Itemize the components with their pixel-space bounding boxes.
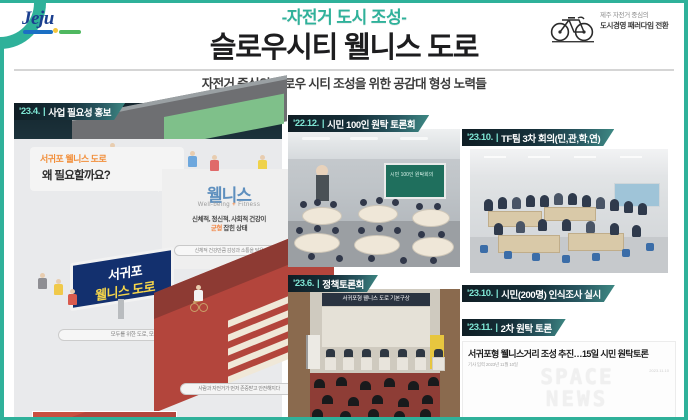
wellness-desc-hl: 균형 bbox=[211, 225, 222, 232]
hall-illustration: 시민 100인 원탁회의 bbox=[288, 129, 460, 267]
attendee bbox=[632, 225, 641, 237]
wellness-desc-l1: 신체적, 정신적, 사회적 건강이 bbox=[192, 216, 266, 223]
audience-seating bbox=[310, 373, 440, 420]
attendee bbox=[624, 201, 633, 213]
person-body bbox=[68, 294, 77, 305]
panelist-desk bbox=[324, 357, 337, 371]
badge-line2: 도시경영 패러다임 전환 bbox=[600, 20, 680, 31]
hall-ceiling bbox=[288, 129, 460, 159]
podium bbox=[316, 175, 329, 201]
slide-canvas: Jeju -자전거 도시 조성- 슬로우시티 웰니스 도로 bbox=[0, 0, 688, 420]
promo-label-ribbon: '23.4. | 사업 필요성 홍보 bbox=[14, 103, 125, 120]
attendee bbox=[562, 219, 571, 231]
wellness-subtitle: Well-being + Fitness bbox=[162, 202, 296, 208]
survey-label-ribbon: '23.10. | 시민(200명) 인식조사 실시 bbox=[462, 285, 615, 302]
bubble-line1: 서귀포 웰니스 도로 bbox=[40, 152, 106, 165]
round-table bbox=[412, 237, 454, 257]
promo-speech-bubble: 서귀포 웰니스 도로 왜 필요할까요? bbox=[30, 147, 184, 191]
roundtable2-sep: | bbox=[495, 322, 497, 333]
panel-roundtable-100: '22.12. | 시민 100인 원탁 토론회 시민 100인 원탁회의 bbox=[288, 115, 460, 267]
person-body bbox=[188, 156, 197, 167]
seated-attendee bbox=[358, 227, 365, 234]
seated-attendee bbox=[296, 227, 303, 234]
round-table bbox=[302, 207, 342, 225]
tfmeeting-photo bbox=[462, 143, 676, 279]
presentation-screen: 시민 100인 원탁회의 bbox=[384, 163, 446, 199]
roundtable100-sep: | bbox=[322, 118, 324, 129]
auditorium-illustration: 서귀포형 웰니스 도로 기본구상 bbox=[288, 289, 460, 420]
audience-head bbox=[394, 411, 405, 420]
seated-attendee bbox=[336, 255, 343, 262]
promo-date: '23.4. bbox=[19, 106, 40, 117]
roundtable100-label-ribbon: '22.12. | 시민 100인 원탁 토론회 bbox=[288, 115, 429, 132]
ceiling-light bbox=[574, 156, 596, 158]
audience-head bbox=[348, 397, 359, 406]
panelist-desk bbox=[342, 357, 355, 371]
office-chair bbox=[480, 245, 488, 253]
seated-attendee bbox=[314, 225, 321, 232]
ceiling-light bbox=[484, 156, 506, 158]
wellness-desc-l2: 잡힌 상태 bbox=[223, 225, 247, 232]
attendee bbox=[638, 203, 647, 215]
person-body bbox=[54, 284, 63, 295]
attendee bbox=[484, 199, 493, 211]
audience-head bbox=[336, 377, 347, 386]
office-chair bbox=[504, 251, 512, 259]
audience-head bbox=[360, 381, 371, 390]
ceiling-light bbox=[302, 137, 330, 140]
survey-label: 시민(200명) 인식조사 실시 bbox=[501, 287, 601, 301]
ceiling-light bbox=[400, 137, 428, 140]
seated-attendee bbox=[332, 227, 339, 234]
panel-roundtable-2: '23.11. | 2차 원탁 토론 서귀포형 웰니스거리 조성 추진…15일 … bbox=[462, 319, 676, 419]
policyforum-photo: 서귀포형 웰니스 도로 기본구상 bbox=[288, 289, 460, 420]
audience-head bbox=[314, 379, 325, 388]
audience-head bbox=[398, 398, 409, 407]
promo-sep: | bbox=[43, 106, 45, 117]
seated-attendee bbox=[416, 203, 423, 210]
bike-wheel bbox=[190, 303, 199, 312]
person-body bbox=[38, 278, 47, 289]
survey-sep: | bbox=[496, 288, 498, 299]
seated-attendee bbox=[308, 253, 315, 260]
attendee bbox=[568, 193, 577, 205]
seated-attendee bbox=[394, 227, 401, 234]
audience-head bbox=[384, 378, 395, 387]
panel-policy-forum: '23.6. | 정책토론회 서귀포형 웰니스 도로 기본구상 bbox=[288, 275, 460, 420]
attendee bbox=[526, 195, 535, 207]
news-headline: 서귀포형 웰니스거리 조성 추진…15일 시민 원탁토론 bbox=[468, 347, 672, 360]
seated-attendee bbox=[314, 199, 321, 206]
attendee bbox=[586, 221, 595, 233]
policyforum-date: '23.6. bbox=[293, 278, 314, 289]
bicycle-icon bbox=[550, 9, 596, 43]
audience-head bbox=[368, 409, 379, 418]
panelist-desk bbox=[378, 357, 391, 371]
audience-head bbox=[428, 377, 439, 386]
news-timestamp: 2023.11.10 bbox=[649, 368, 669, 373]
wellness-sub-plus: + bbox=[232, 202, 236, 208]
ceiling-light bbox=[620, 156, 642, 158]
panelist-desk bbox=[360, 357, 373, 371]
audience-head bbox=[340, 411, 351, 420]
projector-screen bbox=[614, 183, 660, 207]
badge-text: 제주 자전거 중심의 도시경영 패러다임 전환 bbox=[600, 11, 680, 31]
wellness-description: 신체적, 정신적, 사회적 건강이 균형 잡힌 상태 bbox=[162, 215, 296, 233]
tfmeeting-sep: | bbox=[496, 132, 498, 143]
office-chair bbox=[532, 253, 540, 261]
roundtable2-label-ribbon: '23.11. | 2차 원탁 토론 bbox=[462, 319, 566, 336]
attendee bbox=[596, 197, 605, 209]
audience-head bbox=[420, 409, 431, 418]
attendee bbox=[538, 219, 547, 231]
roundtable2-label: 2차 원탁 토론 bbox=[501, 321, 552, 335]
promo-van-inset-photo bbox=[32, 411, 177, 420]
round-table bbox=[294, 233, 340, 253]
seated-attendee bbox=[418, 231, 425, 238]
wellness-sub-a: Well-being bbox=[198, 202, 230, 208]
panelist-desk bbox=[414, 357, 427, 371]
wellness-sub-b: Fitness bbox=[238, 202, 260, 208]
attendee bbox=[494, 223, 503, 235]
policyforum-label: 정책토론회 bbox=[322, 277, 364, 291]
attendee bbox=[512, 197, 521, 209]
seated-attendee bbox=[376, 197, 383, 204]
office-chair bbox=[562, 255, 570, 263]
inset-road bbox=[32, 411, 177, 420]
audience-head bbox=[408, 381, 419, 390]
seated-attendee bbox=[360, 199, 367, 206]
panel-survey: '23.10. | 시민(200명) 인식조사 실시 bbox=[462, 285, 676, 315]
news-clipping: 서귀포형 웰니스거리 조성 추진…15일 시민 원탁토론 기사 입력 2023년… bbox=[462, 341, 676, 419]
seated-attendee bbox=[330, 201, 337, 208]
bicycle-paradigm-badge: 제주 자전거 중심의 도시경영 패러다임 전환 bbox=[538, 7, 680, 47]
tfmeeting-label: TF팀 3차 회의(민,관,학,연) bbox=[501, 131, 600, 145]
screen-text: 시민 100인 원탁회의 bbox=[390, 171, 433, 178]
seated-attendee bbox=[430, 257, 437, 264]
panelist-row bbox=[324, 349, 428, 371]
office-chair bbox=[646, 243, 654, 251]
seated-attendee bbox=[434, 203, 441, 210]
attendee bbox=[516, 221, 525, 233]
promo-lane-caption-pill: 사람과 자전거가 먼저 존중받고 안전해지다 bbox=[180, 383, 298, 395]
attendee bbox=[610, 223, 619, 235]
round-table bbox=[412, 209, 450, 227]
audience-head bbox=[372, 395, 383, 404]
panel-tf-meeting: '23.10. | TF팀 3차 회의(민,관,학,연) bbox=[462, 129, 676, 279]
round-table bbox=[354, 235, 400, 255]
seated-attendee bbox=[400, 257, 407, 264]
forum-banner: 서귀포형 웰니스 도로 기본구상 bbox=[322, 293, 430, 306]
roundtable100-date: '22.12. bbox=[293, 118, 319, 129]
audience-head bbox=[322, 395, 333, 404]
seated-attendee bbox=[368, 255, 375, 262]
ceiling-light bbox=[528, 156, 550, 158]
office-chair bbox=[592, 253, 600, 261]
roundtable100-label: 시민 100인 원탁 토론회 bbox=[327, 117, 415, 131]
round-table bbox=[358, 205, 398, 223]
seated-attendee bbox=[376, 225, 383, 232]
seated-attendee bbox=[392, 199, 399, 206]
bike-wheel bbox=[199, 303, 208, 312]
watermark-line2: NEWS bbox=[479, 388, 675, 410]
meeting-room-illustration bbox=[470, 149, 668, 273]
header-divider bbox=[14, 69, 674, 71]
seated-attendee bbox=[300, 201, 307, 208]
attendee bbox=[540, 195, 549, 207]
tfmeeting-label-ribbon: '23.10. | TF팀 3차 회의(민,관,학,연) bbox=[462, 129, 614, 146]
policyforum-sep: | bbox=[317, 278, 319, 289]
promo-label: 사업 필요성 홍보 bbox=[48, 105, 111, 119]
policyforum-label-ribbon: '23.6. | 정책토론회 bbox=[288, 275, 378, 292]
ceiling-light bbox=[350, 137, 378, 140]
roundtable100-photo: 시민 100인 원탁회의 bbox=[288, 129, 460, 267]
office-chair bbox=[622, 249, 630, 257]
audience-head bbox=[422, 395, 433, 404]
bicycle-icon bbox=[190, 299, 208, 313]
slide-header: Jeju -자전거 도시 조성- 슬로우시티 웰니스 도로 bbox=[0, 3, 688, 97]
attendee bbox=[554, 193, 563, 205]
conference-table bbox=[568, 233, 624, 251]
survey-date: '23.10. bbox=[467, 288, 493, 299]
seated-attendee bbox=[438, 231, 445, 238]
conference-table bbox=[544, 207, 596, 221]
roundtable2-date: '23.11. bbox=[467, 322, 492, 333]
attendee bbox=[498, 197, 507, 209]
bubble-line2: 왜 필요할까요? bbox=[42, 167, 110, 183]
room-ceiling bbox=[470, 149, 668, 175]
attendee bbox=[582, 195, 591, 207]
tfmeeting-photo-inner bbox=[470, 149, 668, 273]
spacenews-watermark: SPACE NEWS bbox=[479, 366, 675, 410]
panelist-desk bbox=[432, 357, 445, 371]
panel-promo: '23.4. | 사업 필요성 홍보 bbox=[14, 103, 282, 419]
person-body bbox=[210, 160, 219, 171]
tfmeeting-date: '23.10. bbox=[467, 132, 493, 143]
badge-line1: 제주 자전거 중심의 bbox=[600, 11, 680, 20]
road-sign-post bbox=[118, 299, 124, 319]
person-body bbox=[194, 290, 203, 301]
projection-screen bbox=[322, 307, 430, 347]
page-subtitle: 자전거 중심의 슬로우 시티 조성을 위한 공감대 형성 노력들 bbox=[0, 73, 688, 92]
korean-flag bbox=[306, 335, 320, 369]
panelist-desk bbox=[396, 357, 409, 371]
audience-head bbox=[312, 409, 323, 418]
watermark-line1: SPACE bbox=[540, 365, 613, 389]
attendee bbox=[610, 199, 619, 211]
